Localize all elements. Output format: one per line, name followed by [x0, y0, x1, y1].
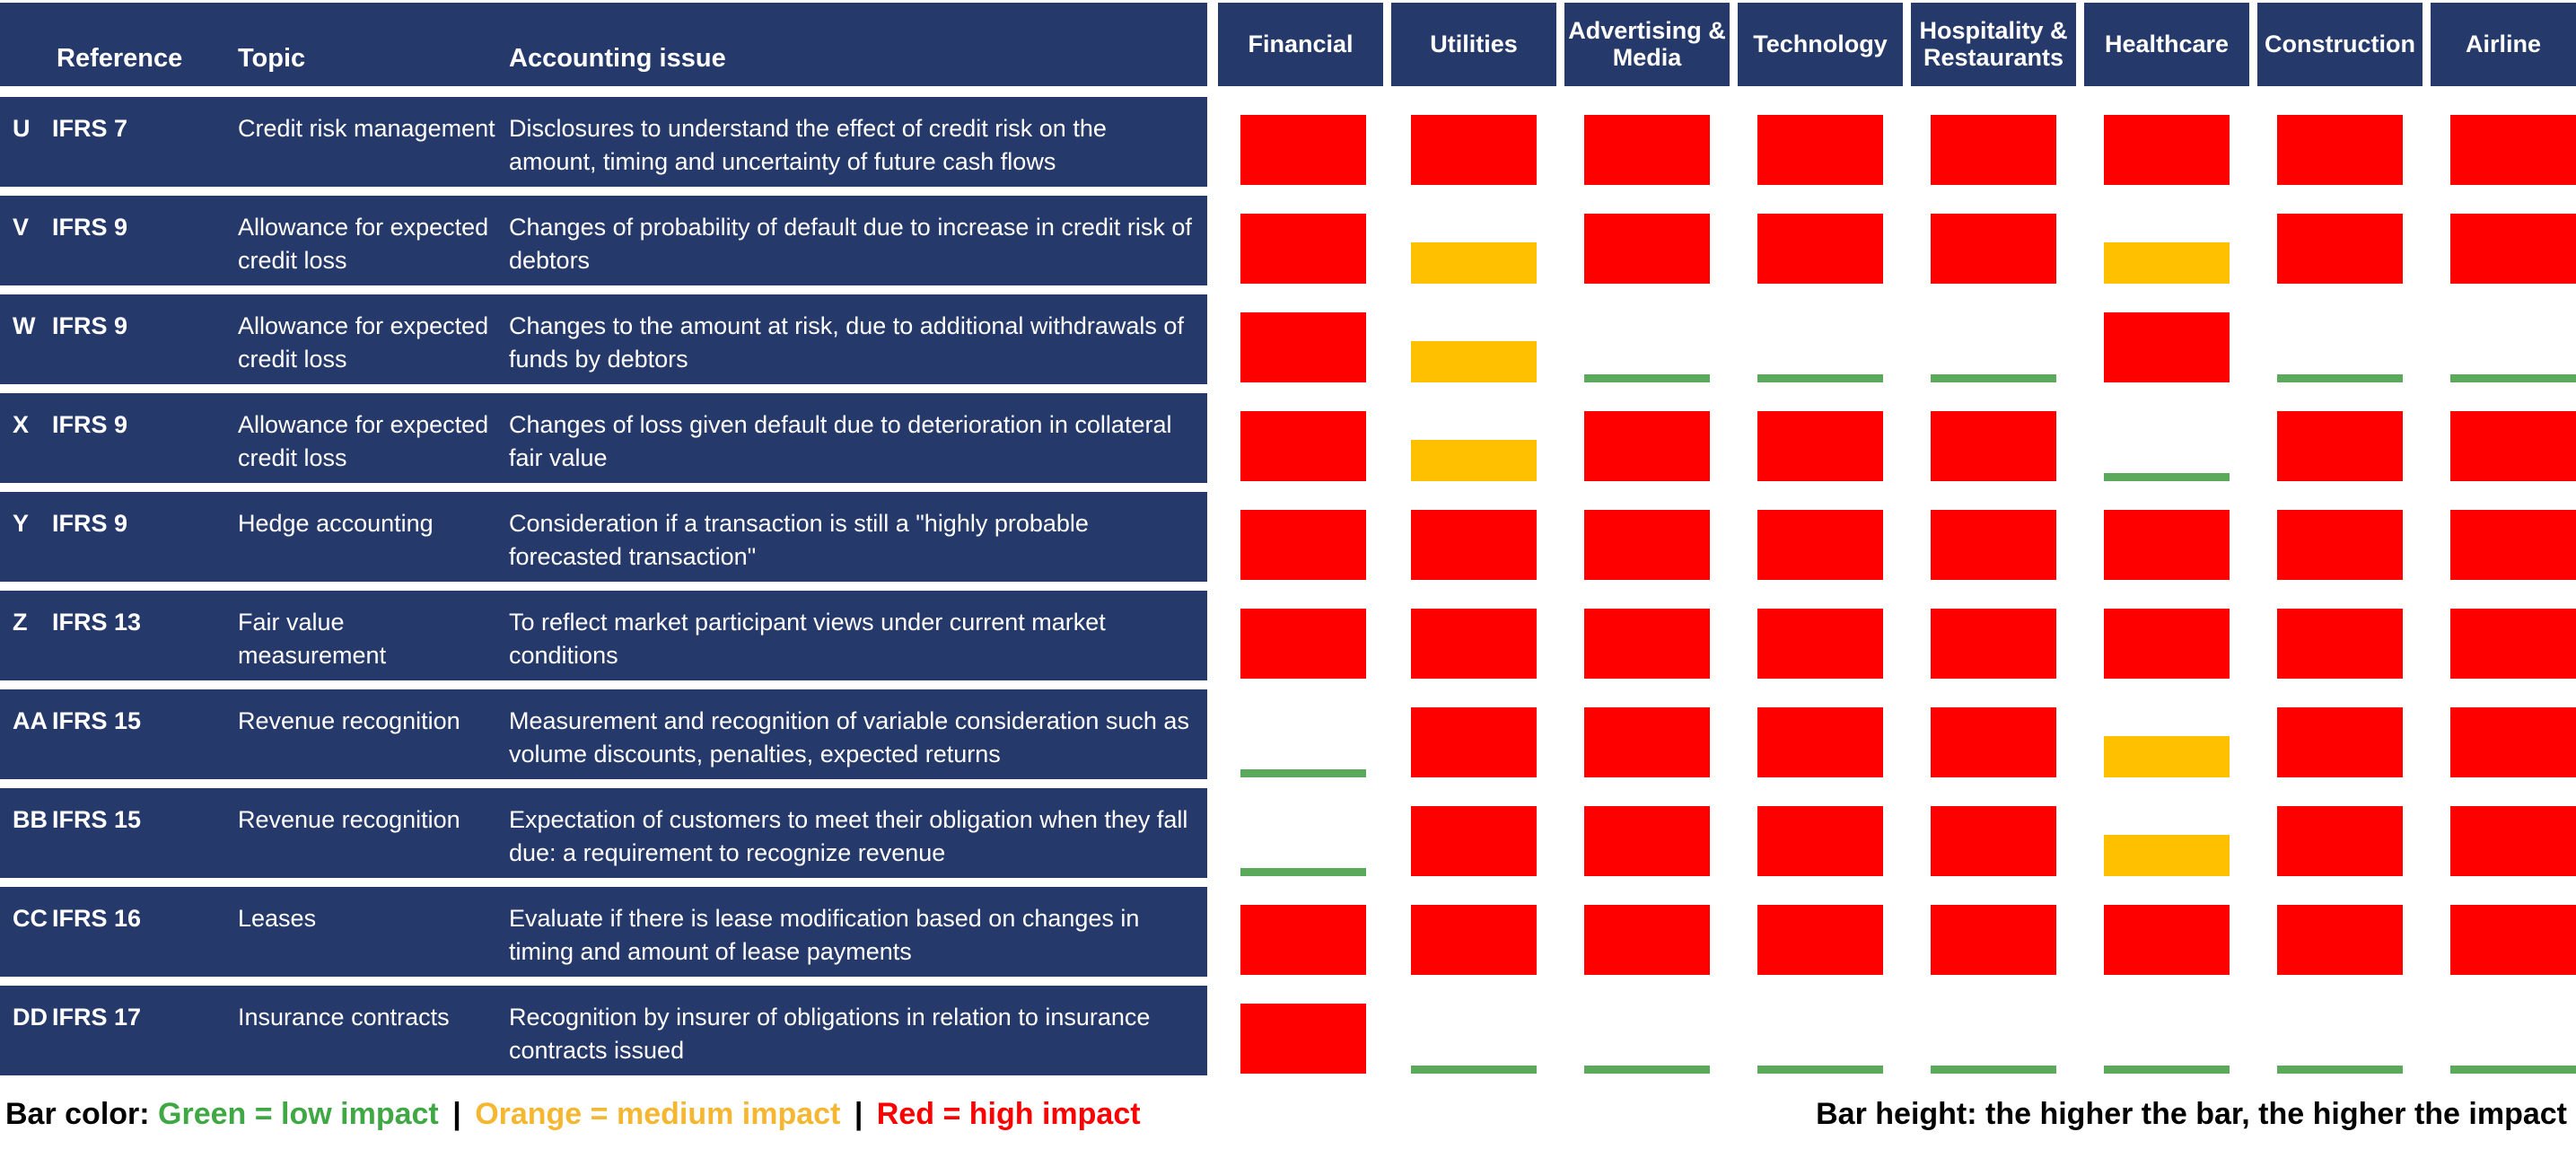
row-topic: Allowance for expected credit loss: [238, 310, 498, 376]
impact-bar: [2450, 510, 2576, 580]
impact-bar: [2277, 1066, 2403, 1074]
impact-bar: [1584, 905, 1710, 975]
impact-bar: [1931, 905, 2056, 975]
column-header-issue: Accounting issue: [509, 44, 726, 74]
impact-bar: [1757, 214, 1883, 284]
table-row: WIFRS 9Allowance for expected credit los…: [0, 294, 1207, 384]
row-topic: Allowance for expected credit loss: [238, 408, 498, 475]
table-row: ZIFRS 13Fair value measurementTo reflect…: [0, 591, 1207, 680]
row-accounting-issue: Expectation of customers to meet their o…: [509, 803, 1200, 870]
row-accounting-issue: Evaluate if there is lease modification …: [509, 902, 1200, 969]
impact-bar: [1584, 411, 1710, 481]
row-ifrs-standard: IFRS 17: [52, 1001, 196, 1034]
row-topic: Credit risk management: [238, 112, 498, 145]
row-ifrs-standard: IFRS 9: [52, 408, 196, 442]
impact-bar: [1584, 214, 1710, 284]
row-ifrs-standard: IFRS 7: [52, 112, 196, 145]
impact-bar: [1757, 707, 1883, 777]
impact-bar: [2450, 1066, 2576, 1074]
column-header-industry: Airline: [2431, 3, 2576, 86]
row-accounting-issue: Changes of loss given default due to det…: [509, 408, 1200, 475]
impact-bar: [1240, 214, 1366, 284]
impact-bar: [1411, 242, 1537, 284]
column-header-reference: Reference: [57, 44, 182, 74]
impact-bar: [2450, 806, 2576, 876]
impact-bar: [2104, 609, 2230, 679]
impact-bar: [1931, 374, 2056, 382]
impact-bar: [1411, 115, 1537, 185]
column-header-industry: Technology: [1738, 3, 1903, 86]
impact-bar: [2277, 806, 2403, 876]
impact-bar: [1411, 609, 1537, 679]
impact-bar: [1411, 806, 1537, 876]
impact-bar: [1240, 411, 1366, 481]
impact-bar: [1584, 806, 1710, 876]
row-topic: Allowance for expected credit loss: [238, 211, 498, 277]
row-ifrs-standard: IFRS 13: [52, 606, 196, 639]
impact-bar: [1411, 905, 1537, 975]
impact-bar: [1584, 609, 1710, 679]
row-accounting-issue: Disclosures to understand the effect of …: [509, 112, 1200, 179]
column-header-industry: Construction: [2257, 3, 2423, 86]
impact-bar: [2277, 214, 2403, 284]
table-row: VIFRS 9Allowance for expected credit los…: [0, 196, 1207, 285]
impact-bar: [1757, 411, 1883, 481]
impact-bar: [2450, 374, 2576, 382]
row-ifrs-standard: IFRS 16: [52, 902, 196, 935]
impact-bar: [1931, 214, 2056, 284]
row-topic: Fair value measurement: [238, 606, 498, 672]
table-row: AAIFRS 15Revenue recognitionMeasurement …: [0, 689, 1207, 779]
row-topic: Insurance contracts: [238, 1001, 498, 1034]
impact-bar: [1411, 707, 1537, 777]
impact-bar: [2104, 736, 2230, 777]
column-header-topic: Topic: [238, 44, 305, 74]
impact-bar: [1584, 510, 1710, 580]
legend-green-label: Green = low impact: [158, 1097, 439, 1131]
impact-bar: [1240, 115, 1366, 185]
legend-orange-label: Orange = medium impact: [475, 1097, 840, 1131]
table-row: XIFRS 9Allowance for expected credit los…: [0, 393, 1207, 483]
legend-bar-color: Bar color: Green = low impact | Orange =…: [5, 1097, 1141, 1132]
impact-bar: [1757, 609, 1883, 679]
table-header-left: Reference Topic Accounting issue: [0, 3, 1207, 86]
row-accounting-issue: Changes to the amount at risk, due to ad…: [509, 310, 1200, 376]
impact-bar: [2277, 905, 2403, 975]
impact-bar: [2277, 609, 2403, 679]
impact-bar: [2277, 374, 2403, 382]
impact-bar: [1757, 115, 1883, 185]
row-accounting-issue: Changes of probability of default due to…: [509, 211, 1200, 277]
impact-bar: [1931, 707, 2056, 777]
impact-bar: [2450, 115, 2576, 185]
row-accounting-issue: Consideration if a transaction is still …: [509, 507, 1200, 574]
impact-bar: [1757, 510, 1883, 580]
impact-bar: [2277, 707, 2403, 777]
impact-bar: [2450, 411, 2576, 481]
legend-separator-1: |: [447, 1097, 467, 1131]
row-topic: Hedge accounting: [238, 507, 498, 540]
impact-bar: [1240, 868, 1366, 876]
impact-bar: [2104, 115, 2230, 185]
table-row: UIFRS 7Credit risk managementDisclosures…: [0, 97, 1207, 187]
impact-bar: [2450, 609, 2576, 679]
table-row: BBIFRS 15Revenue recognitionExpectation …: [0, 788, 1207, 878]
column-header-industry: Advertising & Media: [1564, 3, 1730, 86]
table-row: CCIFRS 16LeasesEvaluate if there is leas…: [0, 887, 1207, 977]
column-header-industry: Healthcare: [2084, 3, 2249, 86]
impact-bar: [1584, 707, 1710, 777]
impact-bar: [2104, 905, 2230, 975]
impact-bar: [1584, 115, 1710, 185]
row-topic: Revenue recognition: [238, 803, 498, 837]
legend-red-label: Red = high impact: [877, 1097, 1141, 1131]
column-header-industry: Hospitality & Restaurants: [1911, 3, 2076, 86]
impact-bar: [2450, 905, 2576, 975]
legend-prefix: Bar color:: [5, 1097, 150, 1131]
impact-bar: [2104, 473, 2230, 481]
impact-bar: [1931, 609, 2056, 679]
table-row: DDIFRS 17Insurance contractsRecognition …: [0, 986, 1207, 1075]
impact-bar: [1240, 769, 1366, 777]
impact-bar: [1757, 806, 1883, 876]
impact-bar: [1931, 510, 2056, 580]
impact-bar: [2277, 115, 2403, 185]
row-accounting-issue: To reflect market participant views unde…: [509, 606, 1200, 672]
impact-bar: [1411, 440, 1537, 481]
impact-bar: [1411, 510, 1537, 580]
row-topic: Revenue recognition: [238, 705, 498, 738]
impact-bar: [2450, 214, 2576, 284]
impact-bar: [1240, 312, 1366, 382]
row-ifrs-standard: IFRS 9: [52, 211, 196, 244]
row-ifrs-standard: IFRS 9: [52, 507, 196, 540]
impact-bar: [1757, 374, 1883, 382]
row-accounting-issue: Recognition by insurer of obligations in…: [509, 1001, 1200, 1067]
impact-bar: [1931, 115, 2056, 185]
table-row: YIFRS 9Hedge accountingConsideration if …: [0, 492, 1207, 582]
impact-bar: [1931, 1066, 2056, 1074]
row-topic: Leases: [238, 902, 498, 935]
impact-bar: [1757, 1066, 1883, 1074]
column-header-industry: Financial: [1218, 3, 1383, 86]
impact-bar: [2104, 312, 2230, 382]
impact-bar: [2104, 835, 2230, 876]
row-ifrs-standard: IFRS 15: [52, 803, 196, 837]
legend-separator-2: |: [849, 1097, 869, 1131]
impact-bar: [1584, 1066, 1710, 1074]
impact-bar: [1240, 609, 1366, 679]
row-accounting-issue: Measurement and recognition of variable …: [509, 705, 1200, 771]
row-ifrs-standard: IFRS 15: [52, 705, 196, 738]
impact-bar: [1584, 374, 1710, 382]
impact-bar: [2104, 510, 2230, 580]
impact-bar: [1240, 905, 1366, 975]
impact-bar: [1931, 806, 2056, 876]
impact-bar: [2277, 411, 2403, 481]
impact-bar: [1931, 411, 2056, 481]
row-ifrs-standard: IFRS 9: [52, 310, 196, 343]
impact-bar: [1411, 341, 1537, 382]
impact-bar: [1240, 510, 1366, 580]
impact-bar: [1240, 1004, 1366, 1074]
impact-bar: [2450, 707, 2576, 777]
impact-bar: [2277, 510, 2403, 580]
impact-matrix-board: Reference Topic Accounting issue Financi…: [0, 0, 2576, 1158]
impact-bar: [1757, 905, 1883, 975]
column-header-industry: Utilities: [1391, 3, 1556, 86]
impact-bar: [1411, 1066, 1537, 1074]
legend-bar-height: Bar height: the higher the bar, the high…: [1816, 1097, 2567, 1132]
impact-bar: [2104, 242, 2230, 284]
impact-bar: [2104, 1066, 2230, 1074]
